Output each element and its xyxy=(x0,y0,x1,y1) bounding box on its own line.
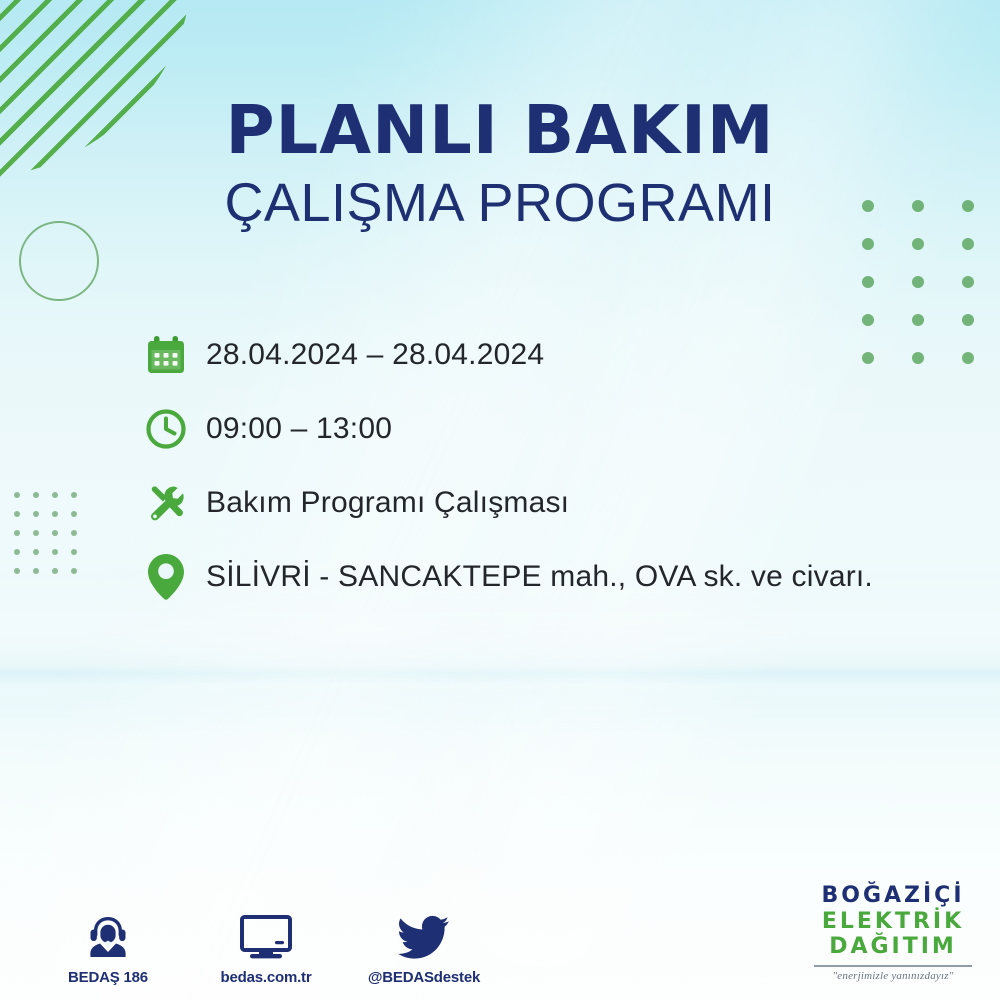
page-title: PLANLI BAKIM xyxy=(0,96,1000,164)
brand-tagline: "enerjimizle yanınızdayız" xyxy=(808,970,978,982)
location-pin-icon xyxy=(136,552,196,602)
contact-twitter[interactable]: @BEDASdestek xyxy=(364,906,484,986)
dot xyxy=(912,276,924,288)
dot xyxy=(962,276,974,288)
dot xyxy=(33,549,39,555)
info-row-time: 09:00 – 13:00 xyxy=(136,392,976,466)
dot xyxy=(862,238,874,250)
brand-divider xyxy=(814,965,972,967)
dot xyxy=(14,511,20,517)
contact-call-center-label: BEDAŞ 186 xyxy=(48,969,168,986)
dot xyxy=(862,276,874,288)
clock-icon xyxy=(136,407,196,451)
dot xyxy=(962,238,974,250)
maintenance-date-range: 28.04.2024 – 28.04.2024 xyxy=(196,338,544,372)
info-row-work-type: Bakım Programı Çalışması xyxy=(136,466,976,540)
dot xyxy=(14,530,20,536)
brand-line-elektrik: ELEKTRİK xyxy=(808,909,978,935)
dot xyxy=(52,492,58,498)
dot xyxy=(14,568,20,574)
contact-website-label: bedas.com.tr xyxy=(206,969,326,986)
brand-logo: BOĞAZİÇİ ELEKTRİK DAĞITIM "enerjimizle y… xyxy=(808,883,978,982)
dot xyxy=(33,511,39,517)
monitor-icon xyxy=(206,906,326,962)
page-subtitle: ÇALIŞMA PROGRAMI xyxy=(0,174,1000,233)
planned-maintenance-poster: PLANLI BAKIM ÇALIŞMA PROGRAMI xyxy=(0,0,1000,1000)
dot xyxy=(71,530,77,536)
dot xyxy=(33,530,39,536)
dot xyxy=(52,511,58,517)
maintenance-info-list: 28.04.2024 – 28.04.2024 09:00 – 13:00 xyxy=(136,318,976,614)
dot-grid-left-decoration xyxy=(14,492,90,587)
dot xyxy=(71,492,77,498)
info-row-date: 28.04.2024 – 28.04.2024 xyxy=(136,318,976,392)
calendar-icon xyxy=(136,333,196,377)
contact-twitter-label: @BEDASdestek xyxy=(364,969,484,986)
dot xyxy=(14,492,20,498)
dot xyxy=(71,568,77,574)
tools-icon xyxy=(136,481,196,525)
dot xyxy=(71,511,77,517)
dot xyxy=(14,549,20,555)
brand-line-dagitim: DAĞITIM xyxy=(808,934,978,960)
call-center-agent-icon xyxy=(48,906,168,962)
dot xyxy=(52,530,58,536)
maintenance-time-range: 09:00 – 13:00 xyxy=(196,412,392,446)
dot xyxy=(33,568,39,574)
contact-call-center[interactable]: BEDAŞ 186 xyxy=(48,906,168,986)
poster-title-block: PLANLI BAKIM ÇALIŞMA PROGRAMI xyxy=(0,96,1000,234)
dot xyxy=(912,238,924,250)
info-row-location: SİLİVRİ - SANCAKTEPE mah., OVA sk. ve ci… xyxy=(136,540,976,614)
dot xyxy=(71,549,77,555)
contact-website[interactable]: bedas.com.tr xyxy=(206,906,326,986)
dot xyxy=(52,549,58,555)
brand-line-bogazici: BOĞAZİÇİ xyxy=(808,883,978,909)
twitter-bird-icon xyxy=(364,906,484,962)
maintenance-location: SİLİVRİ - SANCAKTEPE mah., OVA sk. ve ci… xyxy=(196,560,873,594)
dot xyxy=(52,568,58,574)
footer-contacts: BEDAŞ 186 bedas.com.tr @BEDASdestek xyxy=(48,906,484,986)
maintenance-work-type: Bakım Programı Çalışması xyxy=(196,486,569,520)
dot xyxy=(33,492,39,498)
